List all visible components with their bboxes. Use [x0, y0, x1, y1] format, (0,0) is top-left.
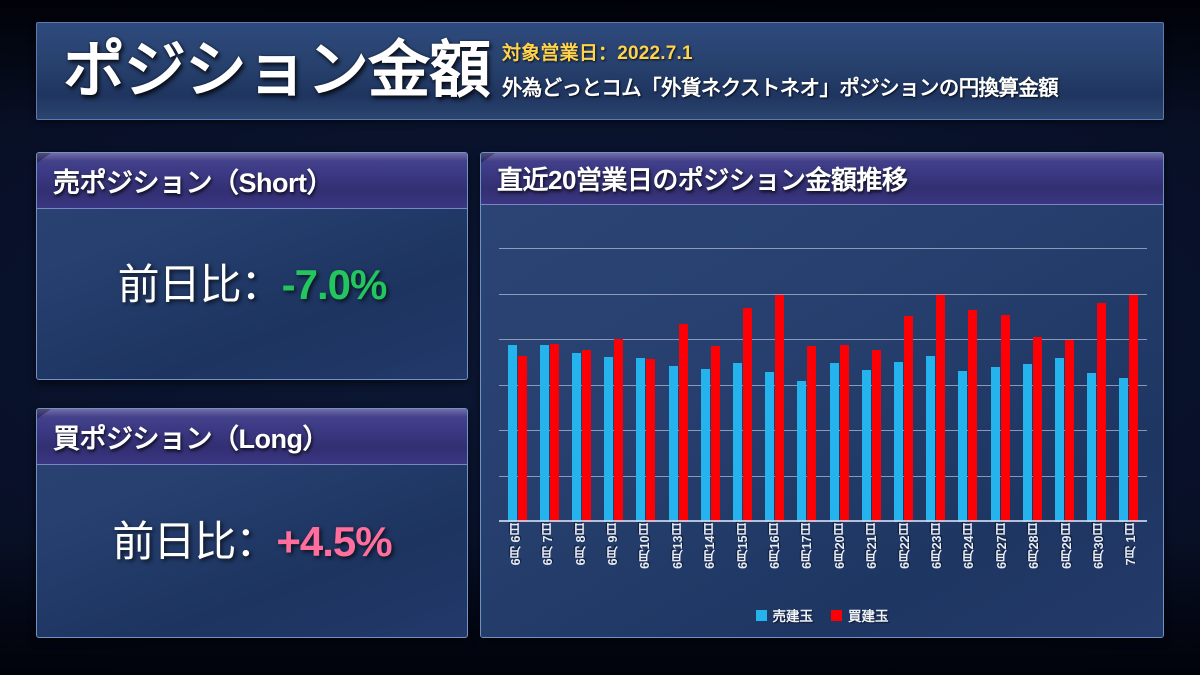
chart-bar-group: [1016, 249, 1048, 522]
chart-bar-group: [984, 249, 1016, 522]
bar-sell: [733, 363, 742, 522]
chart-panel-header: 直近20営業日のポジション金額推移: [481, 153, 1163, 205]
chart-bar-group: [533, 249, 565, 522]
bar-buy: [872, 350, 881, 522]
x-axis-tick: 6月14日: [693, 523, 725, 593]
bar-sell: [1055, 358, 1064, 522]
long-position-panel: 買ポジション（Long） 前日比：+4.5%: [36, 408, 468, 638]
x-axis-tick: 6月23日: [920, 523, 952, 593]
x-axis-tick: 6月21日: [855, 523, 887, 593]
x-axis-tick: 6月 7日: [531, 523, 563, 593]
long-ratio-label: 前日比：: [112, 518, 276, 565]
chart-bar-group: [887, 249, 919, 522]
chart-bar-group: [501, 249, 533, 522]
business-date: 対象営業日：2022.7.1: [502, 38, 1075, 65]
chart-bar-group: [630, 249, 662, 522]
short-position-panel: 売ポジション（Short） 前日比：-7.0%: [36, 152, 468, 380]
x-axis-tick-label: 6月24日: [959, 523, 978, 569]
legend-item: 買建玉: [831, 605, 889, 625]
bar-buy: [936, 295, 945, 523]
bar-buy: [840, 345, 849, 522]
x-axis-tick: 6月16日: [758, 523, 790, 593]
x-axis-tick-label: 6月 9日: [603, 523, 622, 565]
bar-sell: [540, 345, 549, 522]
bar-buy: [518, 356, 527, 522]
bar-buy: [711, 346, 720, 522]
bar-buy: [614, 339, 623, 522]
long-ratio-line: 前日比：+4.5%: [112, 508, 391, 569]
position-trend-chart-panel: 直近20営業日のポジション金額推移 6月 6日6月 7日6月 8日6月 9日6月…: [480, 152, 1164, 638]
chart-panel-title: 直近20営業日のポジション金額推移: [497, 160, 907, 197]
bar-buy: [807, 346, 816, 522]
chart-baseline: [499, 520, 1147, 522]
chart-bar-group: [952, 249, 984, 522]
x-axis-tick: 6月 9日: [596, 523, 628, 593]
bar-sell: [894, 362, 903, 522]
x-axis-tick-label: 6月 8日: [571, 523, 590, 565]
short-ratio-line: 前日比：-7.0%: [118, 251, 387, 312]
short-panel-header: 売ポジション（Short）: [37, 153, 467, 209]
chart-bar-group: [855, 249, 887, 522]
x-axis-tick-label: 7月 1日: [1121, 523, 1140, 565]
x-axis-tick-label: 6月16日: [765, 523, 784, 569]
bar-sell: [830, 363, 839, 522]
x-axis-tick: 6月22日: [888, 523, 920, 593]
bar-sell: [669, 366, 678, 522]
bar-sell: [572, 353, 581, 522]
bar-buy: [1129, 295, 1138, 523]
chart-bar-group: [920, 249, 952, 522]
x-axis-tick: 6月20日: [823, 523, 855, 593]
x-axis-tick-label: 6月13日: [668, 523, 687, 569]
x-axis-tick-label: 6月 7日: [538, 523, 557, 565]
bar-buy: [904, 316, 913, 522]
bar-sell: [701, 369, 710, 522]
bar-sell: [508, 345, 517, 522]
header-subtitle: 外為どっとコム「外貨ネクストネオ」ポジションの円換算金額: [502, 72, 1058, 102]
bar-sell: [1119, 378, 1128, 522]
bar-buy: [1033, 337, 1042, 522]
chart-bar-group: [565, 249, 597, 522]
x-axis-tick-label: 6月29日: [1057, 523, 1076, 569]
header-meta: 対象営業日：2022.7.1 外為どっとコム「外貨ネクストネオ」ポジションの円換…: [502, 38, 1075, 104]
chart-legend: 売建玉買建玉: [481, 605, 1163, 625]
chart-bar-group: [662, 249, 694, 522]
chart-bar-group: [791, 249, 823, 522]
bar-sell: [604, 357, 613, 522]
bar-sell: [862, 370, 871, 522]
chart-x-axis-labels: 6月 6日6月 7日6月 8日6月 9日6月10日6月13日6月14日6月15日…: [499, 523, 1147, 593]
chart-bar-group: [823, 249, 855, 522]
short-ratio-value: -7.0%: [282, 261, 387, 308]
legend-item: 売建玉: [756, 605, 814, 625]
chart-bar-group: [1081, 249, 1113, 522]
chart-bar-group: [1048, 249, 1080, 522]
x-axis-tick: 6月10日: [629, 523, 661, 593]
bar-sell: [636, 358, 645, 522]
bar-buy: [775, 295, 784, 523]
page-title: ポジション金額: [63, 40, 490, 102]
x-axis-tick-label: 6月28日: [1024, 523, 1043, 569]
short-panel-title: 売ポジション（Short）: [53, 161, 333, 200]
x-axis-tick-label: 6月27日: [992, 523, 1011, 569]
bar-buy: [1097, 303, 1106, 522]
x-axis-tick: 6月24日: [953, 523, 985, 593]
x-axis-tick-label: 6月21日: [862, 523, 881, 569]
bar-buy: [550, 344, 559, 522]
chart-bar-group: [694, 249, 726, 522]
chart-bar-group: [598, 249, 630, 522]
chart-bar-group: [726, 249, 758, 522]
bar-sell: [926, 356, 935, 522]
x-axis-tick-label: 6月15日: [733, 523, 752, 569]
bar-sell: [1087, 373, 1096, 522]
chart-plot: [499, 249, 1147, 522]
x-axis-tick: 6月 6日: [499, 523, 531, 593]
x-axis-tick-label: 6月22日: [895, 523, 914, 569]
x-axis-tick: 6月17日: [791, 523, 823, 593]
page-header: ポジション金額 対象営業日：2022.7.1 外為どっとコム「外貨ネクストネオ」…: [36, 22, 1164, 120]
legend-label: 買建玉: [848, 605, 889, 625]
bar-buy: [582, 350, 591, 522]
x-axis-tick-label: 6月14日: [700, 523, 719, 569]
legend-label: 売建玉: [773, 605, 814, 625]
bar-buy: [646, 359, 655, 522]
bar-sell: [958, 371, 967, 522]
legend-swatch-icon: [831, 610, 842, 621]
short-panel-body: 前日比：-7.0%: [37, 209, 467, 379]
bar-sell: [991, 367, 1000, 522]
x-axis-tick: 7月 1日: [1115, 523, 1147, 593]
bar-sell: [797, 381, 806, 523]
bar-buy: [1065, 340, 1074, 522]
long-panel-body: 前日比：+4.5%: [37, 465, 467, 637]
x-axis-tick: 6月27日: [985, 523, 1017, 593]
chart-area: 6月 6日6月 7日6月 8日6月 9日6月10日6月13日6月14日6月15日…: [481, 205, 1163, 637]
x-axis-tick: 6月30日: [1082, 523, 1114, 593]
chart-bars: [499, 249, 1147, 522]
bar-buy: [1001, 315, 1010, 522]
long-panel-title: 買ポジション（Long）: [53, 417, 329, 456]
x-axis-tick-label: 6月30日: [1089, 523, 1108, 569]
long-panel-header: 買ポジション（Long）: [37, 409, 467, 465]
x-axis-tick: 6月29日: [1050, 523, 1082, 593]
x-axis-tick-label: 6月20日: [830, 523, 849, 569]
x-axis-tick-label: 6月23日: [927, 523, 946, 569]
bar-buy: [968, 310, 977, 522]
legend-swatch-icon: [756, 610, 767, 621]
bar-sell: [765, 372, 774, 522]
long-ratio-value: +4.5%: [276, 518, 391, 565]
bar-sell: [1023, 364, 1032, 522]
short-ratio-label: 前日比：: [118, 261, 282, 308]
bar-buy: [743, 308, 752, 522]
chart-bar-group: [1113, 249, 1145, 522]
bar-buy: [679, 324, 688, 522]
x-axis-tick: 6月13日: [661, 523, 693, 593]
x-axis-tick: 6月15日: [726, 523, 758, 593]
x-axis-tick: 6月 8日: [564, 523, 596, 593]
x-axis-tick: 6月28日: [1018, 523, 1050, 593]
x-axis-tick-label: 6月17日: [797, 523, 816, 569]
chart-bar-group: [759, 249, 791, 522]
x-axis-tick-label: 6月 6日: [506, 523, 525, 565]
x-axis-tick-label: 6月10日: [635, 523, 654, 569]
